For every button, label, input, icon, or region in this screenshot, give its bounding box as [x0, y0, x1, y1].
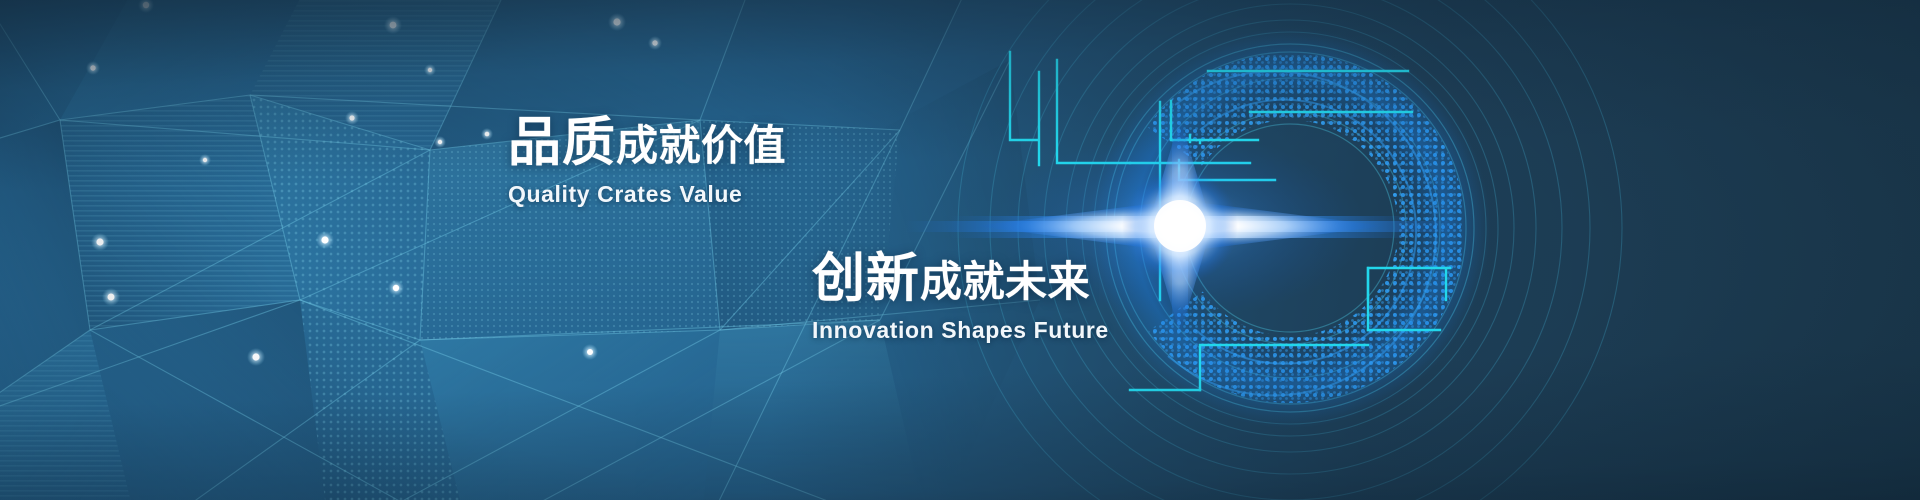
slogan-quality-headline: 品质成就价值: [508, 116, 786, 169]
hero-banner: 品质成就价值 Quality Crates Value 创新成就未来 Innov…: [0, 0, 1920, 500]
slogan-quality-headline-lead: 品质: [508, 113, 616, 172]
slogan-innovation-subline: Innovation Shapes Future: [812, 317, 1109, 344]
slogan-innovation-headline-tail: 成就未来: [920, 258, 1090, 305]
slogan-quality-subline: Quality Crates Value: [508, 181, 786, 208]
slogan-quality-headline-tail: 成就价值: [616, 122, 786, 169]
slogan-innovation: 创新成就未来 Innovation Shapes Future: [812, 252, 1109, 344]
slogan-innovation-headline: 创新成就未来: [812, 252, 1109, 305]
background-vignette: [0, 0, 1920, 500]
slogan-innovation-headline-lead: 创新: [812, 249, 920, 308]
slogan-quality: 品质成就价值 Quality Crates Value: [508, 116, 786, 208]
